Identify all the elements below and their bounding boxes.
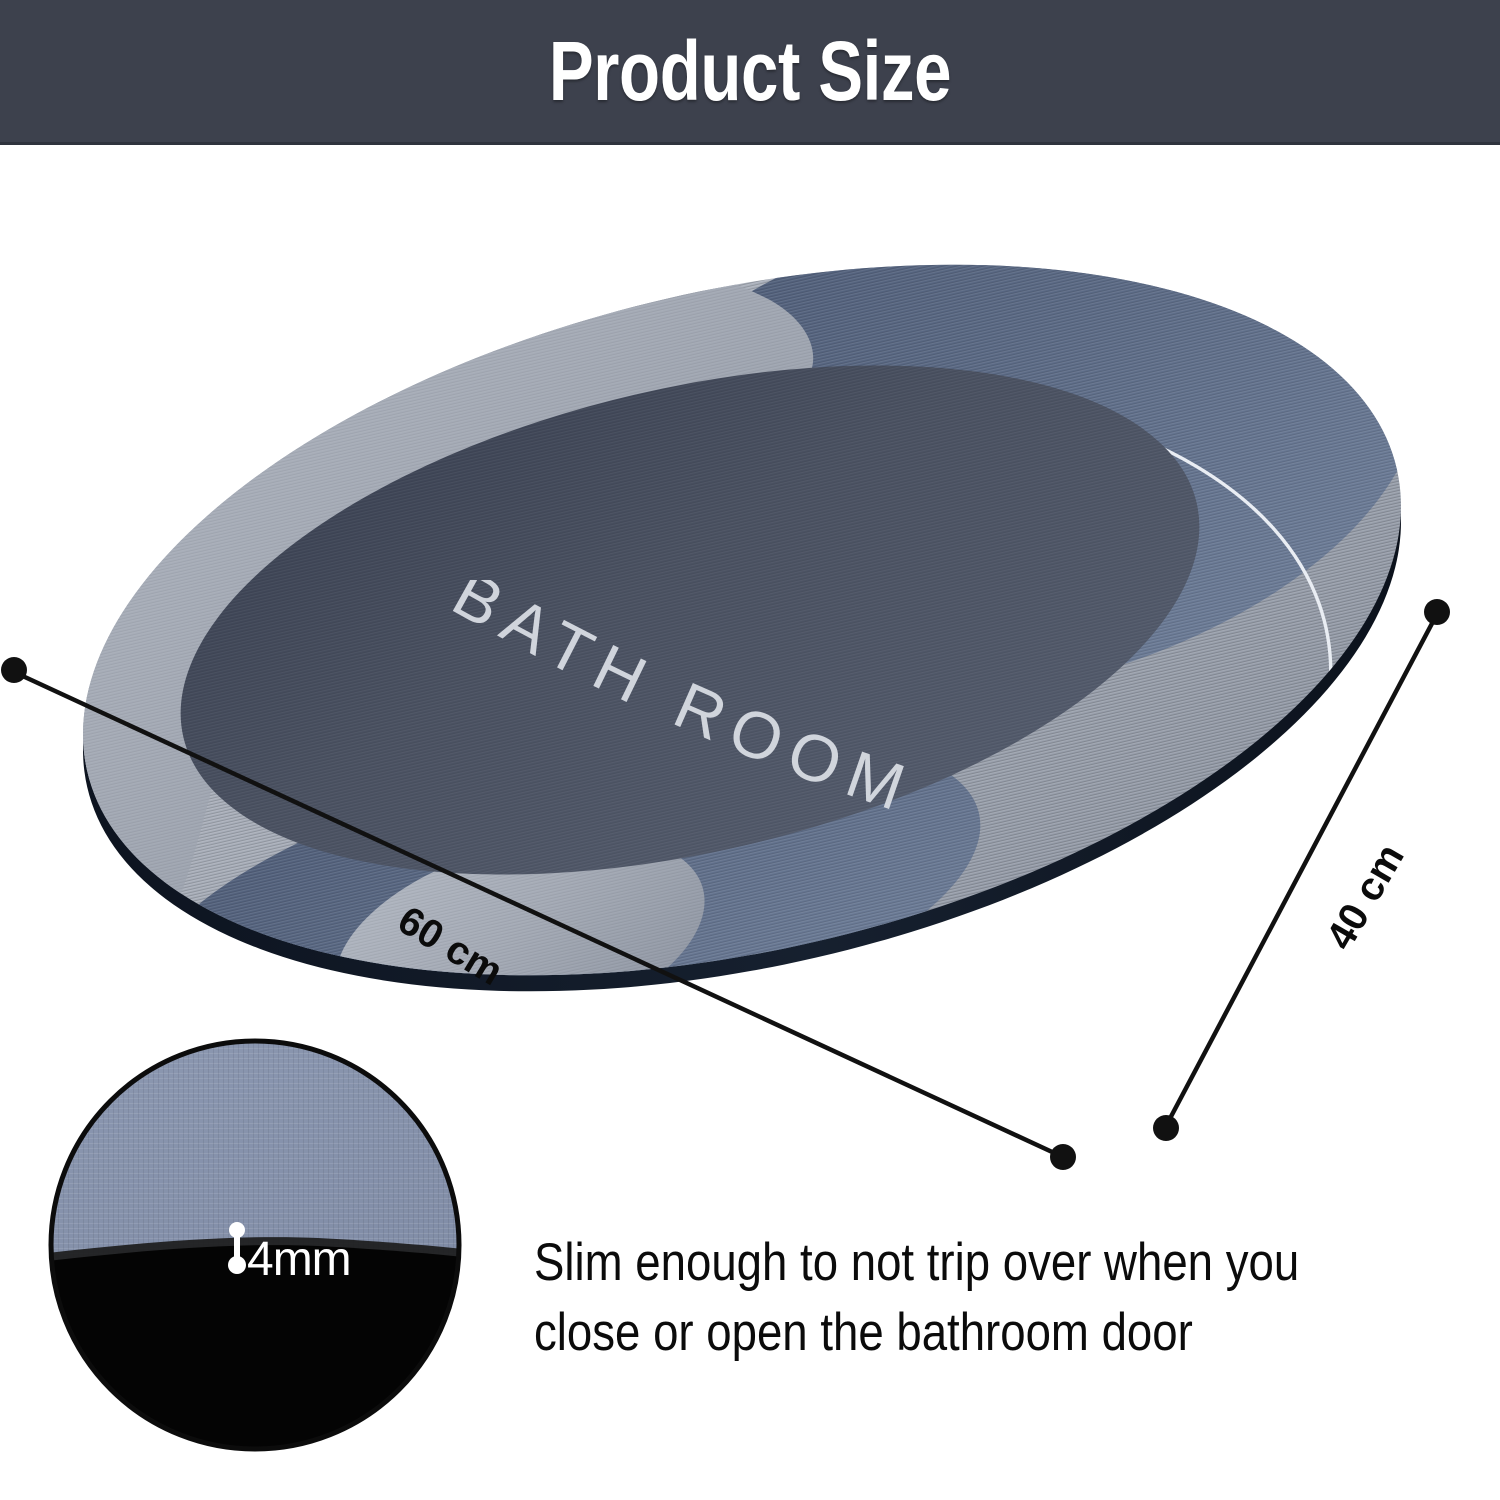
infographic-canvas: Product Size <box>0 0 1500 1500</box>
caption-line-1: Slim enough to not trip over when you <box>534 1228 1342 1298</box>
caption-line-2: close or open the bathroom door <box>534 1298 1342 1368</box>
dimension-dot-icon <box>1050 1144 1076 1170</box>
dimension-dot-icon <box>1424 599 1450 625</box>
dimension-dot-icon <box>1153 1115 1179 1141</box>
dimension-dot-icon <box>1 657 27 683</box>
feature-caption: Slim enough to not trip over when you cl… <box>534 1228 1342 1368</box>
thickness-label: 4mm <box>247 1232 351 1287</box>
